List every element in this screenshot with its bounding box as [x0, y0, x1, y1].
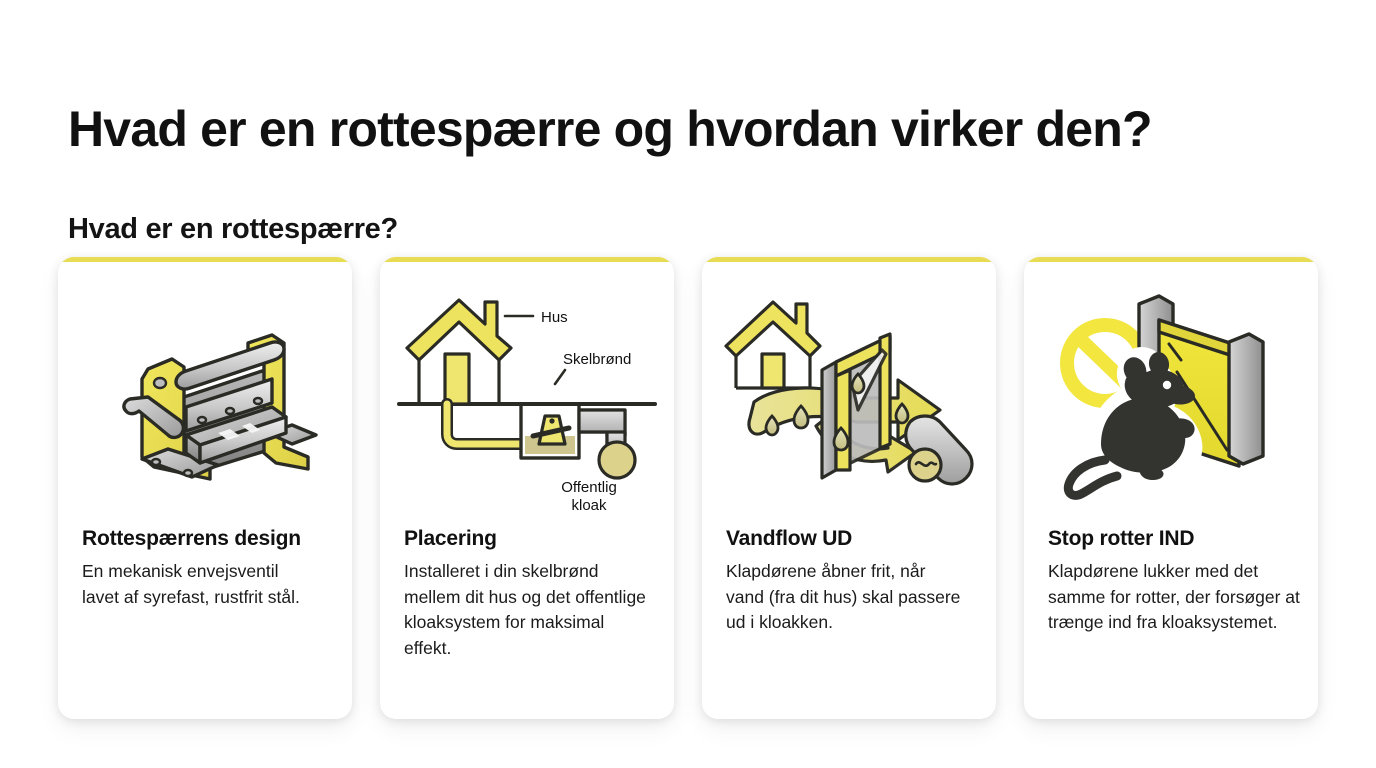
card-illustration: [1024, 257, 1318, 525]
card-heading: Stop rotter IND: [1048, 525, 1300, 552]
card-body: Rottespærrens design En mekanisk envejsv…: [58, 525, 352, 610]
card-text: Klapdørene åbner frit, når vand (fra dit…: [726, 559, 962, 636]
card-illustration: [58, 257, 352, 525]
card-body: Vandflow UD Klapdørene åbner frit, når v…: [702, 525, 996, 636]
house-sewer-placement-diagram-icon: Hus Skelbrønd Offentlig kloak: [393, 284, 661, 504]
diagram-label-public-sewer-line1: Offentlig: [561, 479, 617, 496]
diagram-label-well: Skelbrønd: [563, 351, 631, 368]
feature-card-grid: Rottespærrens design En mekanisk envejsv…: [58, 257, 1320, 719]
card-heading: Rottespærrens design: [82, 525, 314, 552]
page-title: Hvad er en rottespærre og hvordan virker…: [68, 100, 1152, 158]
card-placering[interactable]: Hus Skelbrønd Offentlig kloak Placering …: [380, 257, 674, 719]
card-rottespaerrens-design[interactable]: Rottespærrens design En mekanisk envejsv…: [58, 257, 352, 719]
rat-barrier-device-icon: [90, 287, 320, 502]
card-stop-rotter-ind[interactable]: Stop rotter IND Klapdørene lukker med de…: [1024, 257, 1318, 719]
card-illustration: Hus Skelbrønd Offentlig kloak: [380, 257, 674, 525]
card-text: Klapdørene lukker med det samme for rott…: [1048, 559, 1300, 636]
card-text: Installeret i din skelbrønd mellem dit h…: [404, 559, 650, 661]
diagram-label-public-sewer-line2: kloak: [571, 497, 607, 514]
card-heading: Vandflow UD: [726, 525, 962, 552]
water-flow-out-icon: [718, 292, 980, 497]
card-vandflow-ud[interactable]: Vandflow UD Klapdørene åbner frit, når v…: [702, 257, 996, 719]
rat-blocked-icon: [1043, 288, 1299, 500]
card-body: Placering Installeret i din skelbrønd me…: [380, 525, 674, 661]
card-text: En mekanisk envejsventil lavet af syrefa…: [82, 559, 314, 610]
card-illustration: [702, 257, 996, 525]
card-body: Stop rotter IND Klapdørene lukker med de…: [1024, 525, 1318, 636]
card-heading: Placering: [404, 525, 650, 552]
section-title: Hvad er en rottespærre?: [68, 210, 398, 248]
infographic-page: Hvad er en rottespærre og hvordan virker…: [0, 0, 1376, 768]
diagram-label-house: Hus: [541, 309, 568, 326]
